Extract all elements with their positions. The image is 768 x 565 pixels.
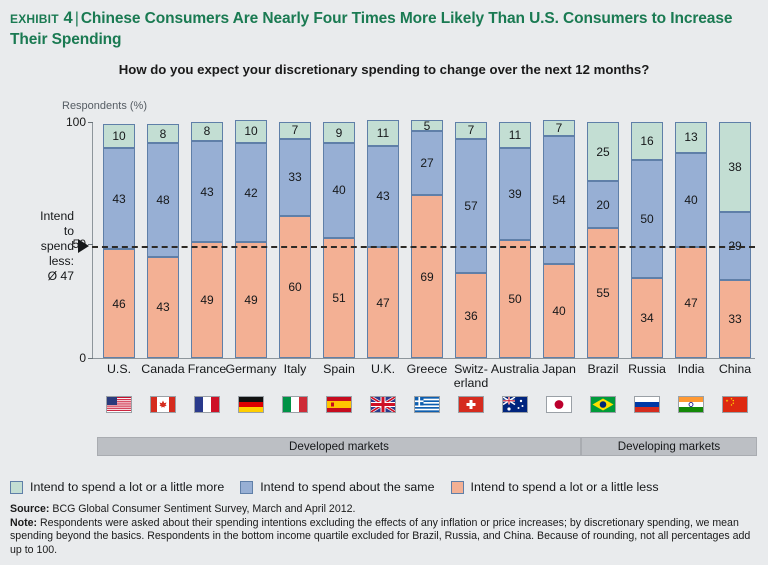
flag-us-icon xyxy=(106,396,132,413)
average-line xyxy=(92,246,755,248)
bar-column[interactable]: 332938 xyxy=(719,122,751,358)
y-tick-mark-100 xyxy=(88,122,93,123)
bar-value-label: 46 xyxy=(112,297,125,311)
legend-label: Intend to spend about the same xyxy=(260,480,434,494)
bar-segment[interactable]: 5 xyxy=(411,120,443,132)
bar-value-label: 27 xyxy=(420,156,433,170)
y-tick-100: 100 xyxy=(52,115,86,129)
legend-item-more[interactable]: Intend to spend a lot or a little more xyxy=(10,480,224,494)
x-axis-label: China xyxy=(706,362,764,376)
bar-segment[interactable]: 40 xyxy=(323,143,355,237)
bar-segment[interactable]: 7 xyxy=(455,122,487,139)
bar-segment[interactable]: 16 xyxy=(631,122,663,160)
bar-value-label: 38 xyxy=(728,160,741,174)
y-tick-mark-0 xyxy=(88,358,93,359)
bar-value-label: 40 xyxy=(684,193,697,207)
bar-segment[interactable]: 57 xyxy=(455,139,487,274)
bar-segment[interactable]: 8 xyxy=(147,124,179,143)
flag-china-icon xyxy=(722,396,748,413)
bar-segment[interactable]: 49 xyxy=(235,242,267,358)
bar-value-label: 36 xyxy=(464,309,477,323)
band-developing-markets: Developing markets xyxy=(581,437,757,456)
note-text: Respondents were asked about their spend… xyxy=(10,517,750,556)
bar-segment[interactable]: 43 xyxy=(147,257,179,358)
bar-value-label: 7 xyxy=(468,123,475,137)
bar-segment[interactable]: 39 xyxy=(499,148,531,240)
bar-value-label: 9 xyxy=(336,126,343,140)
bar-segment[interactable]: 42 xyxy=(235,143,267,242)
bar-column[interactable]: 40547 xyxy=(543,122,575,358)
legend-swatch-less xyxy=(451,481,464,494)
bar-value-label: 47 xyxy=(376,296,389,310)
flag-australia-icon xyxy=(502,396,528,413)
bar-segment[interactable]: 38 xyxy=(719,122,751,212)
bar-value-label: 50 xyxy=(508,292,521,306)
bar-value-label: 40 xyxy=(552,304,565,318)
flag-greece-icon xyxy=(414,396,440,413)
bar-value-label: 57 xyxy=(464,199,477,213)
bar-segment[interactable]: 27 xyxy=(411,131,443,195)
bar-value-label: 20 xyxy=(596,198,609,212)
bar-value-label: 50 xyxy=(640,212,653,226)
note: Note: Respondents were asked about their… xyxy=(10,517,760,558)
bar-value-label: 49 xyxy=(200,293,213,307)
bar-column[interactable]: 60337 xyxy=(279,122,311,358)
bar-segment[interactable]: 36 xyxy=(455,273,487,358)
bar-value-label: 47 xyxy=(684,296,697,310)
flag-france-icon xyxy=(194,396,220,413)
bar-segment[interactable]: 49 xyxy=(191,242,223,358)
bar-segment[interactable]: 11 xyxy=(499,122,531,148)
bar-segment[interactable]: 54 xyxy=(543,136,575,263)
bar-value-label: 8 xyxy=(204,124,211,138)
bar-value-label: 48 xyxy=(156,193,169,207)
flag-canada-icon xyxy=(150,396,176,413)
bar-value-label: 7 xyxy=(556,121,563,135)
note-label: Note: xyxy=(10,517,37,529)
y-axis-title: Respondents (%) xyxy=(62,100,147,112)
avg-line-5: Ø 47 xyxy=(8,269,74,284)
bar-segment[interactable]: 10 xyxy=(103,124,135,148)
bar-column[interactable]: 494210 xyxy=(235,122,267,358)
bar-segment[interactable]: 50 xyxy=(631,160,663,278)
x-axis-label-line: erland xyxy=(442,376,500,390)
bar-column[interactable]: 69275 xyxy=(411,122,443,358)
bar-value-label: 13 xyxy=(684,130,697,144)
bar-segment[interactable]: 7 xyxy=(279,122,311,139)
bar-value-label: 39 xyxy=(508,187,521,201)
exhibit-page: Exhibit 4|Chinese Consumers Are Nearly F… xyxy=(0,0,768,565)
bar-segment[interactable]: 46 xyxy=(103,249,135,358)
bar-segment[interactable]: 9 xyxy=(323,122,355,143)
bar-value-label: 10 xyxy=(244,124,257,138)
legend-item-same[interactable]: Intend to spend about the same xyxy=(240,480,434,494)
bar-value-label: 33 xyxy=(288,170,301,184)
source-text: BCG Global Consumer Sentiment Survey, Ma… xyxy=(49,503,355,515)
bar-column[interactable]: 345016 xyxy=(631,122,663,358)
bar-value-label: 43 xyxy=(156,300,169,314)
bar-segment[interactable]: 11 xyxy=(367,120,399,146)
bar-value-label: 5 xyxy=(424,119,431,133)
bar-value-label: 55 xyxy=(596,286,609,300)
y-tick-0: 0 xyxy=(52,351,86,365)
bar-column[interactable]: 474013 xyxy=(675,122,707,358)
bar-column[interactable]: 51409 xyxy=(323,122,355,358)
bar-value-label: 16 xyxy=(640,134,653,148)
bar-column[interactable]: 36577 xyxy=(455,122,487,358)
bar-segment[interactable]: 48 xyxy=(147,143,179,256)
bar-segment[interactable]: 40 xyxy=(675,153,707,247)
band-label: Developed markets xyxy=(289,440,389,453)
footnotes: Source: BCG Global Consumer Sentiment Su… xyxy=(10,503,760,557)
bar-segment[interactable]: 51 xyxy=(323,238,355,358)
bar-segment[interactable]: 20 xyxy=(587,181,619,228)
bar-value-label: 7 xyxy=(292,123,299,137)
flag-brazil-icon xyxy=(590,396,616,413)
avg-line-3: spend xyxy=(8,239,74,254)
bar-segment[interactable]: 43 xyxy=(367,146,399,247)
bar-value-label: 43 xyxy=(200,185,213,199)
bar-value-label: 60 xyxy=(288,280,301,294)
legend-swatch-same xyxy=(240,481,253,494)
bar-column[interactable]: 503911 xyxy=(499,122,531,358)
bar-segment[interactable]: 7 xyxy=(543,120,575,137)
legend: Intend to spend a lot or a little moreIn… xyxy=(10,480,675,494)
y-axis-line xyxy=(92,122,93,359)
bar-value-label: 11 xyxy=(377,126,389,140)
bar-column[interactable]: 43488 xyxy=(147,122,179,358)
bar-segment[interactable]: 47 xyxy=(675,247,707,358)
bar-value-label: 49 xyxy=(244,293,257,307)
flag-germany-icon xyxy=(238,396,264,413)
bar-value-label: 43 xyxy=(112,192,125,206)
bar-value-label: 42 xyxy=(244,186,257,200)
bar-segment[interactable]: 69 xyxy=(411,195,443,358)
bar-segment[interactable]: 60 xyxy=(279,216,311,358)
bar-segment[interactable]: 25 xyxy=(587,122,619,181)
bar-value-label: 34 xyxy=(640,311,653,325)
avg-line-4: less: xyxy=(8,254,74,269)
bar-segment[interactable]: 10 xyxy=(235,120,267,144)
bar-segment[interactable]: 43 xyxy=(103,148,135,249)
bar-value-label: 11 xyxy=(509,128,521,142)
bar-value-label: 51 xyxy=(332,291,345,305)
bar-segment[interactable]: 13 xyxy=(675,122,707,153)
x-axis-label-line: China xyxy=(706,362,764,376)
bar-segment[interactable]: 33 xyxy=(279,139,311,217)
flag-spain-icon xyxy=(326,396,352,413)
bar-segment[interactable]: 43 xyxy=(191,141,223,242)
avg-line-1: Intend xyxy=(8,209,74,224)
bar-value-label: 69 xyxy=(420,270,433,284)
bar-segment[interactable]: 34 xyxy=(631,278,663,358)
bar-segment[interactable]: 47 xyxy=(367,247,399,358)
bar-value-label: 8 xyxy=(160,127,167,141)
flag-japan-icon xyxy=(546,396,572,413)
legend-label: Intend to spend a lot or a little less xyxy=(471,480,659,494)
bar-column[interactable]: 474311 xyxy=(367,122,399,358)
legend-swatch-more xyxy=(10,481,23,494)
bar-column[interactable]: 552025 xyxy=(587,122,619,358)
bar-segment[interactable]: 8 xyxy=(191,122,223,141)
bar-value-label: 10 xyxy=(112,129,125,143)
average-marker-arrow xyxy=(78,239,89,253)
legend-label: Intend to spend a lot or a little more xyxy=(30,480,224,494)
flag-india-icon xyxy=(678,396,704,413)
legend-item-less[interactable]: Intend to spend a lot or a little less xyxy=(451,480,659,494)
flag-russia-icon xyxy=(634,396,660,413)
bar-segment[interactable]: 40 xyxy=(543,264,575,358)
flag-switzerland-icon xyxy=(458,396,484,413)
band-developed-markets: Developed markets xyxy=(97,437,581,456)
source-label: Source: xyxy=(10,503,49,515)
bar-value-label: 40 xyxy=(332,183,345,197)
bar-column[interactable]: 464310 xyxy=(103,122,135,358)
bar-value-label: 43 xyxy=(376,189,389,203)
avg-line-2: to xyxy=(8,224,74,239)
flag-italy-icon xyxy=(282,396,308,413)
bar-value-label: 54 xyxy=(552,193,565,207)
bar-column[interactable]: 49438 xyxy=(191,122,223,358)
bar-value-label: 25 xyxy=(596,145,609,159)
bar-value-label: 33 xyxy=(728,312,741,326)
average-label: Intend to spend less: Ø 47 xyxy=(8,209,74,284)
plot-area: 4643104348849438494210603375140947431169… xyxy=(95,122,755,358)
bar-segment[interactable]: 33 xyxy=(719,280,751,358)
source-note: Source: BCG Global Consumer Sentiment Su… xyxy=(10,503,760,517)
bar-segment[interactable]: 50 xyxy=(499,240,531,358)
band-label: Developing markets xyxy=(618,440,720,453)
flag-uk-icon xyxy=(370,396,396,413)
x-axis-line xyxy=(92,358,755,359)
